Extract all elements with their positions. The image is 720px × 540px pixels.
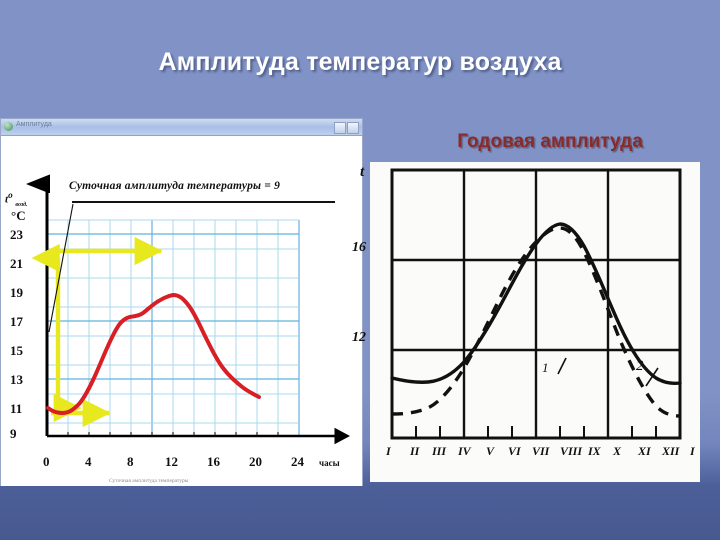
x-tick-XI: XI [638,444,651,459]
window-body: to возд. °C 23 21 19 17 15 13 11 9 0 4 8… [1,136,362,486]
x-tick-II: II [410,444,419,459]
left-window-screenshot: Амплитуда [0,118,363,486]
annotation-leader-line [49,204,73,332]
x-tick-20: 20 [249,454,262,470]
x-tick-XII: XII [662,444,679,459]
y-tick-11: 11 [10,401,22,417]
close-button[interactable] [347,122,359,134]
x-tick-VII: VII [532,444,549,459]
x-axis-label: часы [319,458,340,468]
x-tick-III: III [432,444,446,459]
y-axis-label: t [360,164,364,181]
slide-canvas: Амплитуда температур воздуха Годовая амп… [0,0,720,540]
x-tick-X: X [613,444,621,459]
x-tick-I: I [386,444,391,459]
y-tick-16: 16 [352,240,366,256]
x-tick-16: 16 [207,454,220,470]
y-tick-15: 15 [10,343,23,359]
app-icon [4,122,13,131]
temperature-curve [48,295,259,413]
x-tick-4: 4 [85,454,92,470]
y-tick-9: 9 [10,426,17,442]
x-tick-IV: IV [458,444,471,459]
y-tick-12: 12 [352,330,366,346]
curve-2-label: 2 [636,358,644,375]
y-axis-unit: °C [11,208,26,224]
minimize-button[interactable] [334,122,346,134]
window-titlebar: Амплитуда [1,119,362,136]
annual-amplitude-chart [370,162,700,482]
y-tick-19: 19 [10,285,23,301]
x-tick-I-end: I [690,444,695,459]
x-tick-24: 24 [291,454,304,470]
y-tick-13: 13 [10,372,23,388]
y-axis-label: to возд. [5,190,28,208]
x-tick-VI: VI [508,444,521,459]
y-tick-21: 21 [10,256,23,272]
curve-1-label: 1 [542,360,549,376]
y-tick-23: 23 [10,227,23,243]
amplitude-annotation-text: Суточная амплитуда температуры = 9 [69,180,280,192]
y-tick-17: 17 [10,314,23,330]
right-figure-caption: Годовая амплитуда [400,131,700,153]
x-tick-12: 12 [165,454,178,470]
x-tick-VIII: VIII [560,444,582,459]
figure-caption: Суточная амплитуда температуры [109,478,188,484]
x-tick-8: 8 [127,454,134,470]
x-tick-0: 0 [43,454,50,470]
annual-amplitude-figure: t 16 12 1 2 I II III IV V VI VII VIII IX… [370,162,700,482]
x-tick-V: V [486,444,494,459]
x-tick-IX: IX [588,444,601,459]
page-title: Амплитуда температур воздуха [0,48,720,77]
window-title: Амплитуда [16,121,52,128]
